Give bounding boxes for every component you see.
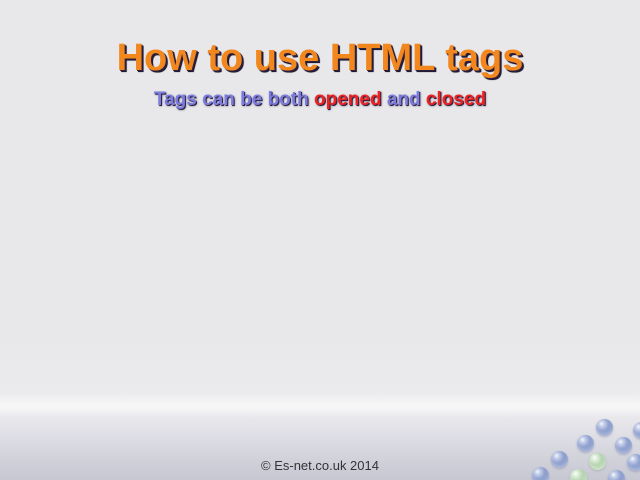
decorative-sphere-blue <box>596 419 613 436</box>
subtitle-text-part-2: and <box>382 89 426 110</box>
copyright-footer: © Es-net.co.uk 2014 <box>0 457 640 475</box>
subtitle-text-part-1: Tags can be both <box>154 89 314 110</box>
slide-canvas: How to use HTML tags Tags can be both op… <box>0 0 640 480</box>
decorative-sphere-blue <box>577 435 594 452</box>
slide-subtitle: Tags can be both opened and closed <box>154 88 486 112</box>
slide-subtitle-container: Tags can be both opened and closed <box>0 88 640 112</box>
decorative-sphere-blue <box>615 437 632 454</box>
page-title: How to use HTML tags <box>117 36 524 80</box>
subtitle-keyword-opened: opened <box>314 89 382 110</box>
slide-title-container: How to use HTML tags <box>0 36 640 80</box>
subtitle-keyword-closed: closed <box>426 89 486 110</box>
background-sheen-band <box>0 392 640 418</box>
decorative-sphere-blue <box>633 422 640 439</box>
